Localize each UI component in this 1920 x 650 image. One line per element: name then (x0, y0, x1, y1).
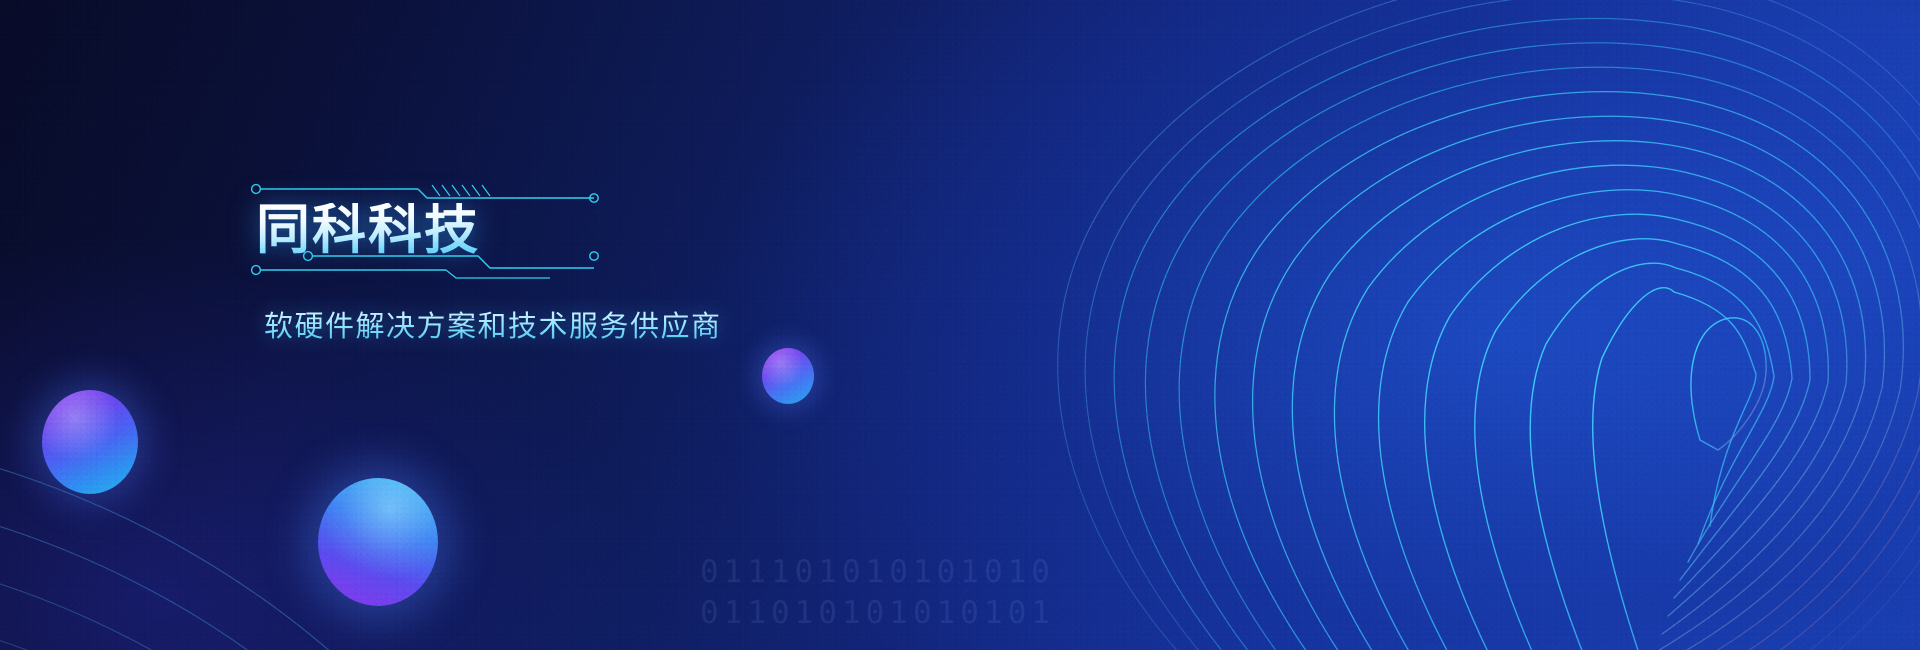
banner-content: 同科科技 软硬件解决方案和技术服务供应商 (0, 0, 1920, 650)
page-tagline: 软硬件解决方案和技术服务供应商 (264, 303, 722, 345)
circuit-line-bottom-icon (250, 252, 600, 280)
page-title: 同科科技 (256, 203, 480, 257)
hero-banner: 011101010101010 011010101010101 同科科技 (0, 0, 1920, 650)
